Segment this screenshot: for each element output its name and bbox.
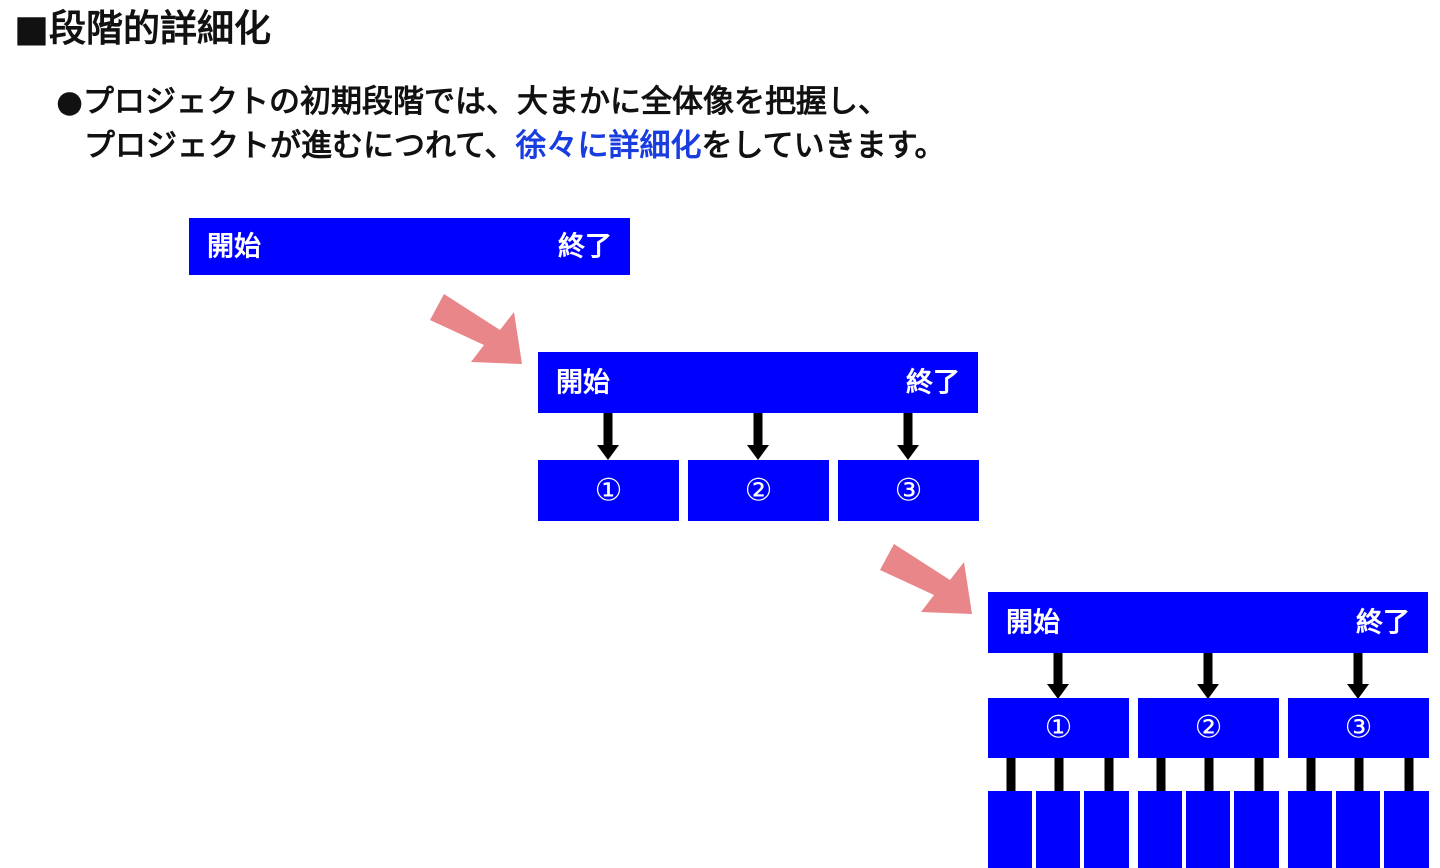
arrow-down-icon: [597, 413, 619, 460]
level-3-subtask-box-3: [1084, 791, 1129, 868]
level-1-timeline-bar: 開始 終了: [189, 218, 630, 275]
level-3-end-label: 終了: [1356, 609, 1410, 636]
level-3-subtask-box-1: [988, 791, 1032, 868]
level-3-start-label: 開始: [1006, 609, 1060, 636]
arrow-down-right-icon: [872, 540, 990, 622]
level-3-subtask-box-5: [1186, 791, 1230, 868]
level-2-task-box-3: ③: [838, 460, 979, 521]
arrow-down-icon: [1197, 653, 1219, 699]
level-3-task-label-3: ③: [1288, 713, 1429, 744]
level-2-task-label-1: ①: [538, 475, 679, 506]
level-1-start-label: 開始: [207, 233, 261, 260]
bullet-paragraph: ●プロジェクトの初期段階では、大まかに全体像を把握し、 プロジェクトが進むにつれ…: [56, 80, 946, 168]
level-3-task-box-1: ①: [988, 698, 1129, 758]
level-3-subtask-box-9: [1384, 791, 1429, 868]
level-2-timeline-bar: 開始 終了: [538, 352, 978, 413]
level-3-subtask-box-8: [1336, 791, 1380, 868]
arrow-down-icon: [1347, 653, 1369, 699]
level-3-subtask-box-6: [1234, 791, 1279, 868]
bullet-line-2-segment-c: をしていきます。: [702, 128, 946, 164]
level-3-task-label-2: ②: [1138, 713, 1279, 744]
level-2-start-label: 開始: [556, 369, 610, 396]
level-3-subtask-box-2: [1036, 791, 1080, 868]
level-2-end-label: 終了: [906, 369, 960, 396]
level-1-end-label: 終了: [558, 233, 612, 260]
page-title: ■段階的詳細化: [14, 8, 271, 51]
level-2-task-label-2: ②: [688, 475, 829, 506]
arrow-down-icon: [747, 413, 769, 460]
level-3-task-box-3: ③: [1288, 698, 1429, 758]
level-3-timeline-bar: 開始 終了: [988, 592, 1428, 653]
level-2-task-box-1: ①: [538, 460, 679, 521]
level-2-task-label-3: ③: [838, 475, 979, 506]
bullet-line-2: プロジェクトが進むにつれて、徐々に詳細化をしていきます。: [56, 124, 946, 168]
level-3-task-label-1: ①: [988, 713, 1129, 744]
level-3-subtask-box-7: [1288, 791, 1332, 868]
level-3-task-box-2: ②: [1138, 698, 1279, 758]
arrow-down-right-icon: [422, 290, 540, 372]
level-2-task-box-2: ②: [688, 460, 829, 521]
arrow-down-icon: [897, 413, 919, 460]
level-3-subtask-box-4: [1138, 791, 1182, 868]
bullet-line-2-segment-a: プロジェクトが進むにつれて、: [84, 128, 516, 164]
bullet-line-1: ●プロジェクトの初期段階では、大まかに全体像を把握し、: [56, 80, 946, 124]
bullet-line-2-highlight: 徐々に詳細化: [516, 128, 702, 164]
arrow-down-icon: [1047, 653, 1069, 699]
